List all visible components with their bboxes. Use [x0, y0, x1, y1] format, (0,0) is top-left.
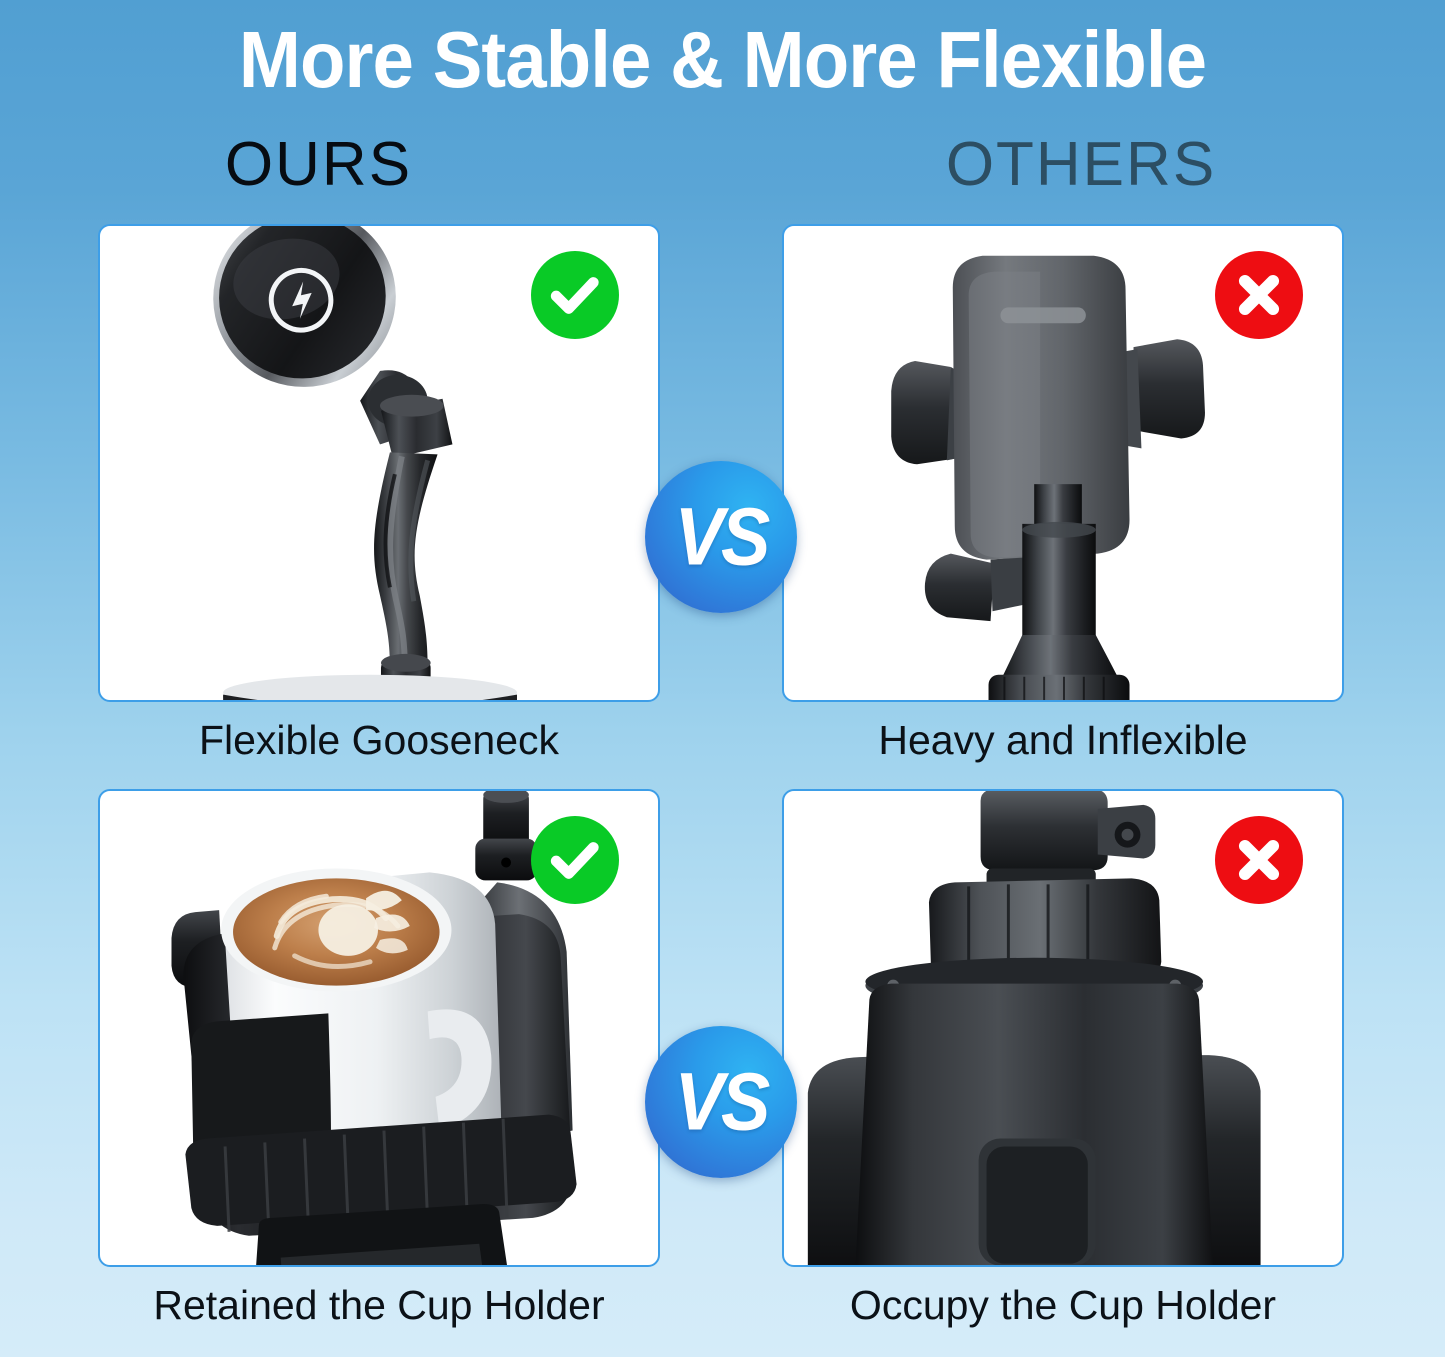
column-heading-others: OTHERS: [722, 131, 1445, 199]
caption-bottom-left: Retained the Cup Holder: [88, 1281, 670, 1329]
status-badge-cross-bottom-right: [1215, 816, 1303, 904]
caption-top-right: Heavy and Inflexible: [782, 716, 1344, 764]
mount-base-disc: [223, 675, 517, 701]
vs-badge-top: VS: [645, 461, 797, 613]
gooseneck-stub: [475, 791, 537, 880]
page-title: More Stable & More Flexible: [51, 14, 1395, 106]
status-badge-check-bottom-left: [531, 816, 619, 904]
status-badge-cross-top-right: [1215, 251, 1303, 339]
cradle-slot-detail: [1000, 307, 1085, 323]
check-icon: [546, 831, 604, 889]
flexible-gooseneck-tube: [374, 452, 438, 670]
caption-bottom-right: Occupy the Cup Holder: [782, 1281, 1344, 1329]
status-badge-check-top-left: [531, 251, 619, 339]
ball-joint-head: [981, 791, 1156, 892]
gooseneck-top-collar: [380, 395, 452, 459]
column-heading-ours: OURS: [0, 131, 722, 199]
pole-knurled-base: [989, 675, 1130, 701]
vs-badge-top-label: VS: [675, 496, 768, 577]
check-icon: [546, 266, 604, 324]
cross-icon: [1230, 831, 1288, 889]
caption-top-left: Flexible Gooseneck: [98, 716, 660, 764]
cross-icon: [1230, 266, 1288, 324]
vs-badge-bottom-label: VS: [675, 1061, 768, 1142]
vs-badge-bottom: VS: [645, 1026, 797, 1178]
